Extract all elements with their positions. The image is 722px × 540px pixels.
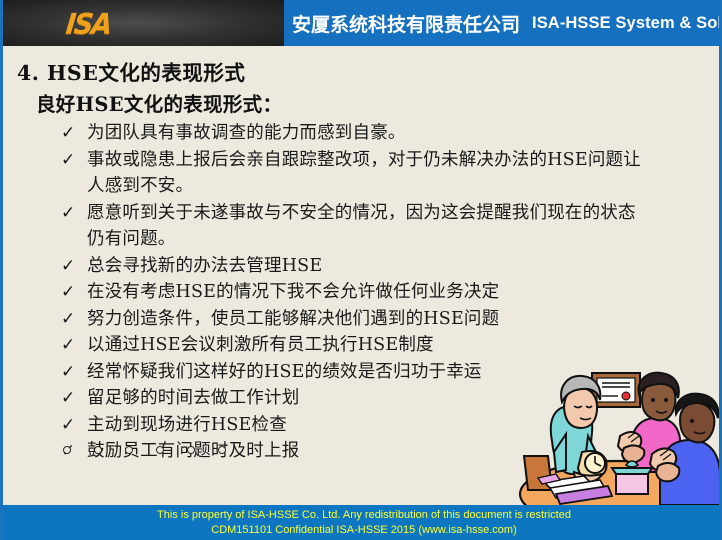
header-title-bar: 安厦系统科技有限责任公司 ISA-HSSE System & Solutions… [284, 0, 722, 46]
circle-bullet-icon [63, 446, 71, 454]
company-name-cn: 安厦系统科技有限责任公司 [292, 10, 520, 37]
footer-line-2: CDM151101 Confidential ISA-HSSE 2015 (ww… [3, 523, 722, 538]
check-icon: ✓ [61, 200, 87, 227]
dot-marker-row [63, 446, 226, 454]
circle-bullet-icon [218, 446, 226, 454]
check-icon: ✓ [61, 412, 87, 439]
slide-title: 4. HSE文化的表现形式 [17, 56, 245, 86]
list-item: ✓ 努力创造条件，使员工能够解决他们遇到的HSE问题 [61, 306, 686, 333]
list-item: ✓ 在没有考虑HSE的情况下我不会允许做任何业务决定 [61, 279, 686, 306]
list-item: ✓ 事故或隐患上报后会亲自跟踪整改项，对于仍未解决办法的HSE问题让人感到不安。 [61, 147, 686, 200]
slide-subtitle: 良好HSE文化的表现形式： [36, 88, 282, 117]
award-ceremony-illustration [508, 356, 722, 505]
slide-header: ISA 安厦系统科技有限责任公司 ISA-HSSE System & Solut… [3, 0, 722, 46]
check-icon: ✓ [61, 385, 87, 412]
list-item: ✓ 以通过HSE会议刺激所有员工执行HSE制度 [61, 332, 686, 359]
check-icon: ✓ [61, 279, 87, 306]
check-icon: ✓ [61, 306, 87, 333]
list-item-text: 为团队具有事故调查的能力而感到自豪。 [87, 120, 686, 147]
slide-canvas: ISA 安厦系统科技有限责任公司 ISA-HSSE System & Solut… [0, 0, 722, 540]
list-item-text: 在没有考虑HSE的情况下我不会允许做任何业务决定 [87, 279, 686, 306]
circle-bullet-icon [156, 446, 164, 454]
list-item-text: 以通过HSE会议刺激所有员工执行HSE制度 [87, 332, 686, 359]
circle-bullet-icon [94, 446, 102, 454]
list-item: ✓ 愿意听到关于未遂事故与不安全的情况，因为这会提醒我们现在的状态仍有问题。 [61, 200, 686, 253]
list-item-text: 努力创造条件，使员工能够解决他们遇到的HSE问题 [87, 306, 686, 333]
check-icon: ✓ [61, 359, 87, 386]
list-item-text: 事故或隐患上报后会亲自跟踪整改项，对于仍未解决办法的HSE问题让人感到不安。 [87, 147, 647, 200]
isa-logo: ISA [64, 8, 112, 41]
list-item: ✓ 总会寻找新的办法去管理HSE [61, 253, 686, 280]
check-icon: ✓ [61, 332, 87, 359]
list-item-text: 愿意听到关于未遂事故与不安全的情况，因为这会提醒我们现在的状态仍有问题。 [87, 200, 647, 253]
company-name-en: ISA-HSSE System & Solutions Co. LTD [532, 14, 722, 33]
check-icon: ✓ [61, 120, 87, 147]
list-item-text: 总会寻找新的办法去管理HSE [87, 253, 686, 280]
circle-bullet-icon [187, 446, 195, 454]
check-icon: ✓ [61, 253, 87, 280]
circle-bullet-icon [125, 446, 133, 454]
logo-panel: ISA [3, 0, 284, 46]
list-item: ✓ 为团队具有事故调查的能力而感到自豪。 [61, 120, 686, 147]
check-icon: ✓ [61, 147, 87, 174]
slide-footer: This is property of ISA-HSSE Co. Ltd. An… [3, 505, 722, 540]
footer-line-1: This is property of ISA-HSSE Co. Ltd. An… [3, 508, 722, 523]
